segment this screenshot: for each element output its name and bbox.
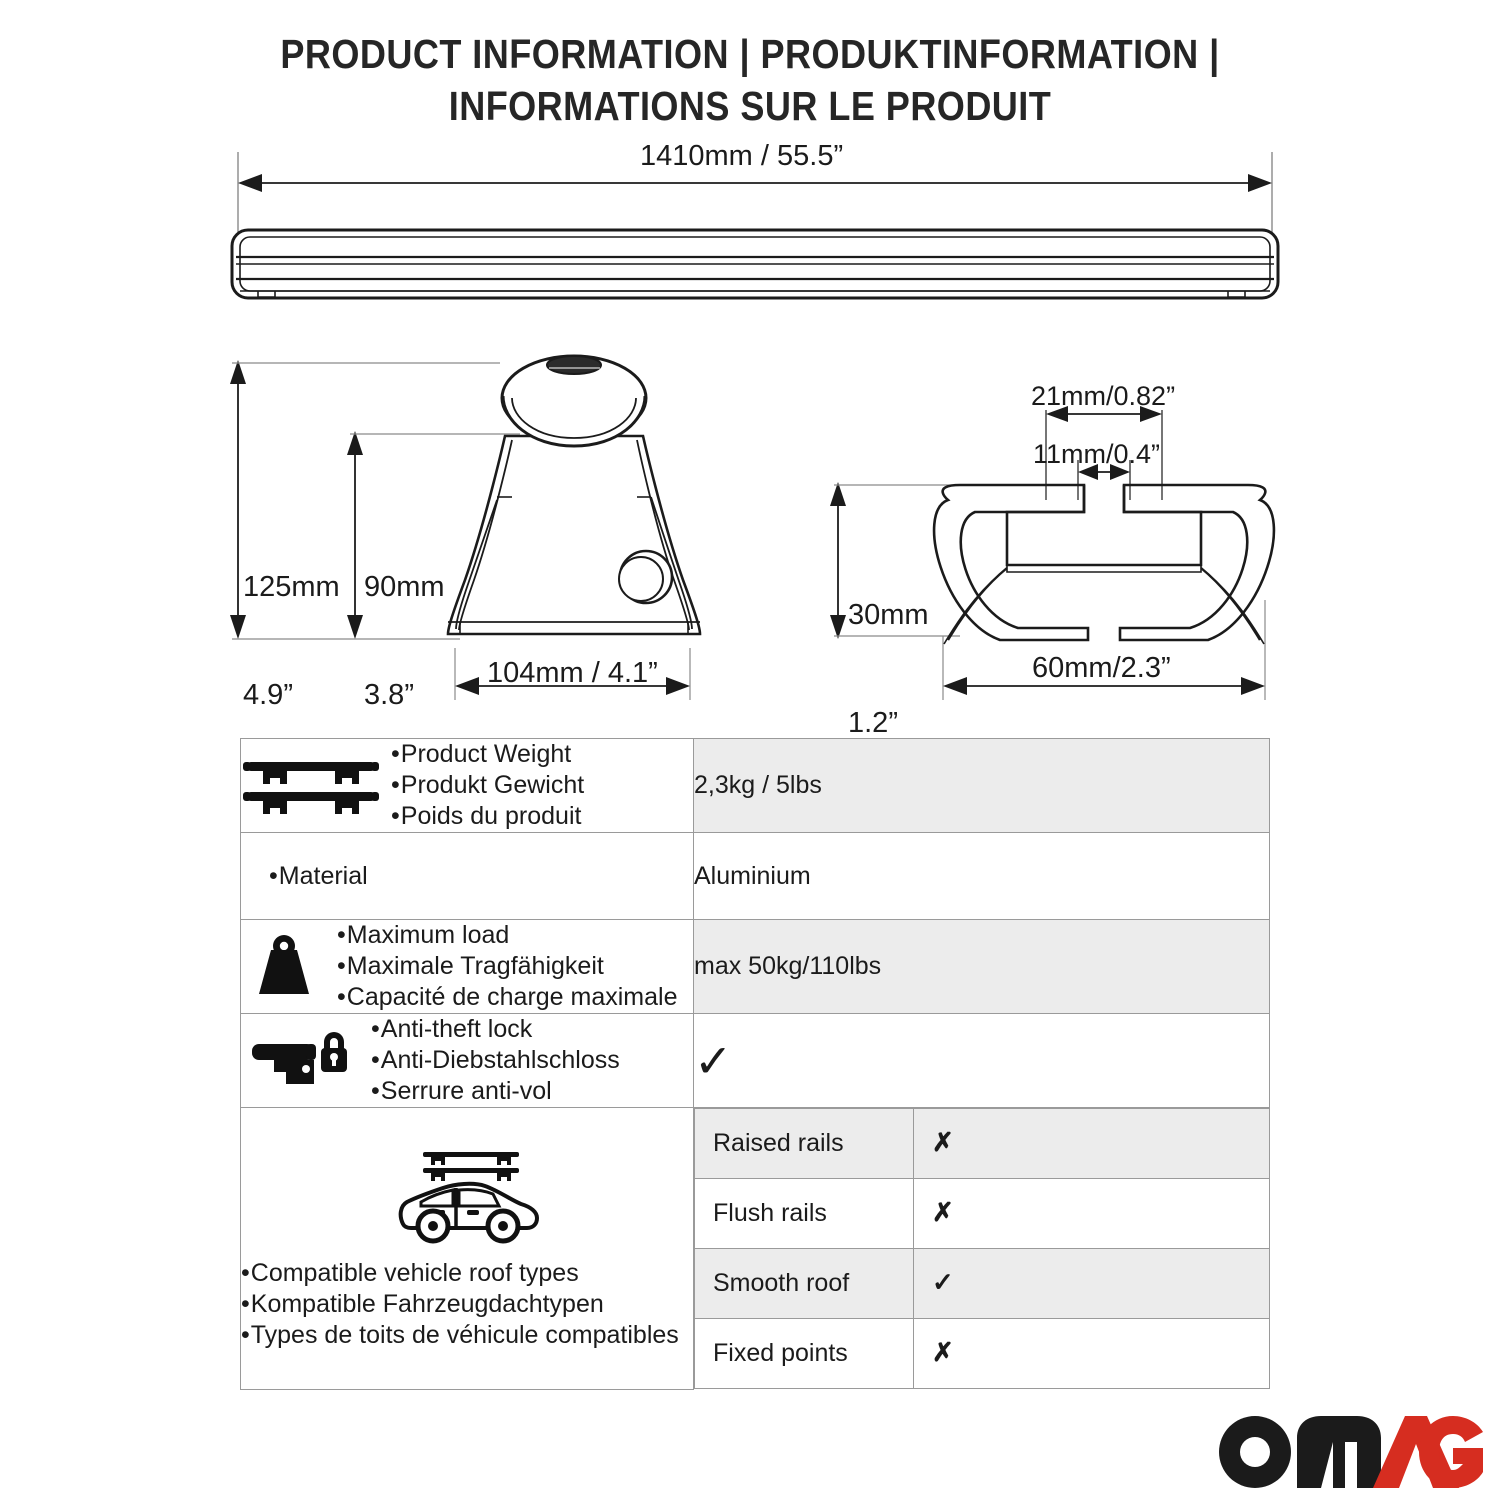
cross-icon: ✗ xyxy=(932,1197,954,1227)
spec-label-text: Maximum load Maximale Tragfähigkeit Capa… xyxy=(337,920,678,1013)
roof-type-mark: ✓ xyxy=(914,1249,1270,1319)
spec-label-cell: Product Weight Produkt Gewicht Poids du … xyxy=(241,739,694,833)
spec-value-max-load: max 50kg/110lbs xyxy=(694,920,1270,1014)
lock-icon xyxy=(241,1026,361,1096)
car-with-roofbars-icon xyxy=(241,1146,693,1250)
roof-types-label-text: Compatible vehicle roof types Kompatible… xyxy=(241,1258,693,1351)
cross-icon: ✗ xyxy=(932,1337,954,1367)
table-row: Material Aluminium xyxy=(241,833,1270,920)
spec-label-text: Product Weight Produkt Gewicht Poids du … xyxy=(391,739,584,832)
label-line: Material xyxy=(269,861,368,892)
spec-value-anti-theft: ✓ xyxy=(694,1014,1270,1108)
label-line: Serrure anti-vol xyxy=(371,1076,620,1107)
table-row: Maximum load Maximale Tragfähigkeit Capa… xyxy=(241,920,1270,1014)
spec-label-cell: Maximum load Maximale Tragfähigkeit Capa… xyxy=(241,920,694,1014)
roof-type-name: Smooth roof xyxy=(695,1249,914,1319)
table-row: Product Weight Produkt Gewicht Poids du … xyxy=(241,739,1270,833)
roof-type-name: Flush rails xyxy=(695,1179,914,1249)
roof-type-row: Fixed points ✗ xyxy=(695,1319,1270,1389)
weight-icon xyxy=(241,934,327,1000)
profile-slot-inner-label: 11mm/0.4” xyxy=(1033,436,1160,472)
roof-type-name: Raised rails xyxy=(695,1109,914,1179)
roof-types-matrix-cell: Raised rails ✗ Flush rails ✗ Smooth roof… xyxy=(694,1108,1270,1390)
spec-value-material: Aluminium xyxy=(694,833,1270,920)
label-line: Maximum load xyxy=(337,920,678,951)
spec-label-cell: Material xyxy=(241,833,694,920)
profile-width-label: 60mm/2.3” xyxy=(1032,650,1171,686)
roof-types-label-cell: Compatible vehicle roof types Kompatible… xyxy=(241,1108,694,1390)
label-line: Kompatible Fahrzeugdachtypen xyxy=(241,1289,693,1320)
table-row: Compatible vehicle roof types Kompatible… xyxy=(241,1108,1270,1390)
crossbar-cross-section-drawing xyxy=(0,0,1500,720)
label-line: Maximale Tragfähigkeit xyxy=(337,951,678,982)
spec-label-cell: Anti-theft lock Anti-Diebstahlschloss Se… xyxy=(241,1014,694,1108)
label-line: Types de toits de véhicule compatibles xyxy=(241,1320,693,1351)
spec-label-text: Anti-theft lock Anti-Diebstahlschloss Se… xyxy=(371,1014,620,1107)
roof-type-mark: ✗ xyxy=(914,1319,1270,1389)
omac-logo xyxy=(1215,1412,1485,1495)
roof-type-name: Fixed points xyxy=(695,1319,914,1389)
check-icon: ✓ xyxy=(694,1035,733,1087)
roof-type-row: Flush rails ✗ xyxy=(695,1179,1270,1249)
label-line: Anti-Diebstahlschloss xyxy=(371,1045,620,1076)
table-row: Anti-theft lock Anti-Diebstahlschloss Se… xyxy=(241,1014,1270,1108)
spec-value-weight: 2,3kg / 5lbs xyxy=(694,739,1270,833)
label-line: Poids du produit xyxy=(391,801,584,832)
cross-icon: ✗ xyxy=(932,1127,954,1157)
roof-type-mark: ✗ xyxy=(914,1109,1270,1179)
roof-type-row: Smooth roof ✓ xyxy=(695,1249,1270,1319)
label-line: Anti-theft lock xyxy=(371,1014,620,1045)
roof-types-table: Raised rails ✗ Flush rails ✗ Smooth roof… xyxy=(694,1108,1270,1389)
two-crossbars-icon xyxy=(241,754,381,818)
product-spec-table: Product Weight Produkt Gewicht Poids du … xyxy=(240,738,1270,1390)
label-line: Product Weight xyxy=(391,739,584,770)
label-line: Produkt Gewicht xyxy=(391,770,584,801)
label-line: Capacité de charge maximale xyxy=(337,982,678,1013)
check-icon: ✓ xyxy=(932,1267,954,1297)
roof-type-mark: ✗ xyxy=(914,1179,1270,1249)
spec-label-text: Material xyxy=(241,861,368,892)
label-line: Compatible vehicle roof types xyxy=(241,1258,693,1289)
profile-slot-outer-label: 21mm/0.82” xyxy=(1031,378,1175,414)
roof-type-row: Raised rails ✗ xyxy=(695,1109,1270,1179)
